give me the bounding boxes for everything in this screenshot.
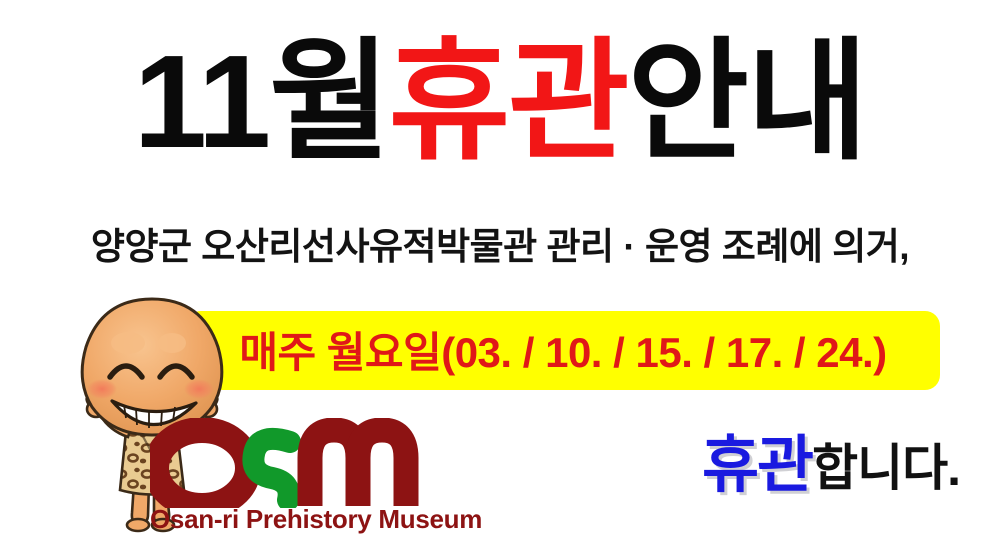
museum-closure-notice-poster: 11월휴관안내 양양군 오산리선사유적박물관 관리 · 운영 조례에 의거, 매… — [0, 0, 1000, 555]
logo-letter-s — [253, 439, 290, 500]
title-segment-notice: 안내 — [627, 28, 866, 175]
mascot-cheek-left — [87, 379, 117, 399]
closing-emphasis-closed: 휴관 — [702, 437, 812, 494]
mascot-brow-right — [158, 333, 186, 353]
closure-dates-highlight-band: 매주 월요일(03. / 10. / 15. / 17. / 24.) — [186, 311, 940, 390]
logo-letter-m — [310, 430, 406, 506]
title-segment-month: 11월 — [134, 28, 389, 175]
subtitle-ordinance-reference: 양양군 오산리선사유적박물관 관리 · 운영 조례에 의거, — [0, 216, 1000, 270]
logo-caption: Osan-ri Prehistory Museum — [150, 504, 440, 535]
mascot-cheek-right — [184, 379, 214, 399]
page-title: 11월휴관안내 — [0, 36, 1000, 168]
closing-statement: 휴관합니다. — [620, 418, 960, 494]
closing-suffix: 합니다. — [812, 442, 960, 495]
museum-logo: Osan-ri Prehistory Museum — [150, 418, 440, 550]
logo-letter-o — [156, 430, 248, 506]
mascot-brow-left — [111, 332, 145, 354]
osm-logo-mark — [150, 418, 440, 508]
closure-dates-text: 매주 월요일(03. / 10. / 15. / 17. / 24.) — [186, 311, 940, 390]
title-segment-closed: 휴관 — [389, 28, 628, 175]
